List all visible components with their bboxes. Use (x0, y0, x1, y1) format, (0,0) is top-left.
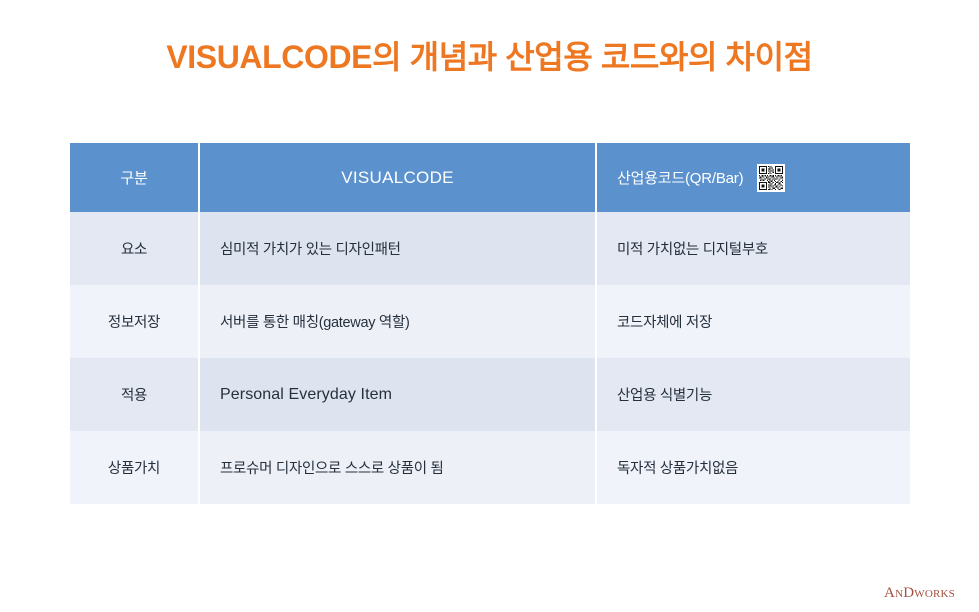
row-industrial-value: 미적 가치없는 디지털부호 (597, 212, 910, 285)
brand-logo-rest: works (914, 585, 955, 601)
row-industrial-value: 코드자체에 저장 (597, 285, 910, 358)
comparison-table: 구분 VISUALCODE 산업용코드(QR/Bar) (70, 143, 910, 504)
row-visualcode-value: 서버를 통한 매칭(gateway 역할) (200, 285, 595, 358)
row-visualcode-value: 심미적 가치가 있는 디자인패턴 (200, 212, 595, 285)
row-label: 정보저장 (70, 285, 198, 358)
row-label: 적용 (70, 358, 198, 431)
row-label: 요소 (70, 212, 198, 285)
qr-code-icon (757, 164, 785, 192)
table-header-row: 구분 VISUALCODE 산업용코드(QR/Bar) (70, 143, 910, 212)
header-cell-label: 구분 (70, 143, 198, 212)
table-row: 정보저장 서버를 통한 매칭(gateway 역할) 코드자체에 저장 (70, 285, 910, 358)
row-industrial-value: 산업용 식별기능 (597, 358, 910, 431)
table-row: 상품가치 프로슈머 디자인으로 스스로 상품이 됨 독자적 상품가치없음 (70, 431, 910, 504)
header-cell-visualcode: VISUALCODE (200, 143, 595, 212)
row-industrial-value: 독자적 상품가치없음 (597, 431, 910, 504)
brand-logo: AnDworks (884, 585, 955, 602)
row-visualcode-value: 프로슈머 디자인으로 스스로 상품이 됨 (200, 431, 595, 504)
row-visualcode-value: Personal Everyday Item (200, 358, 595, 431)
table-row: 요소 심미적 가치가 있는 디자인패턴 미적 가치없는 디지털부호 (70, 212, 910, 285)
brand-logo-d: D (903, 585, 914, 601)
page-title: VISUALCODE의 개념과 산업용 코드와의 차이점 (0, 32, 979, 78)
brand-logo-a: A (884, 585, 895, 601)
table-row: 적용 Personal Everyday Item 산업용 식별기능 (70, 358, 910, 431)
header-cell-industrial: 산업용코드(QR/Bar) (597, 143, 910, 212)
row-label: 상품가치 (70, 431, 198, 504)
header-cell-industrial-label: 산업용코드(QR/Bar) (617, 167, 743, 188)
brand-logo-n: n (895, 585, 903, 601)
